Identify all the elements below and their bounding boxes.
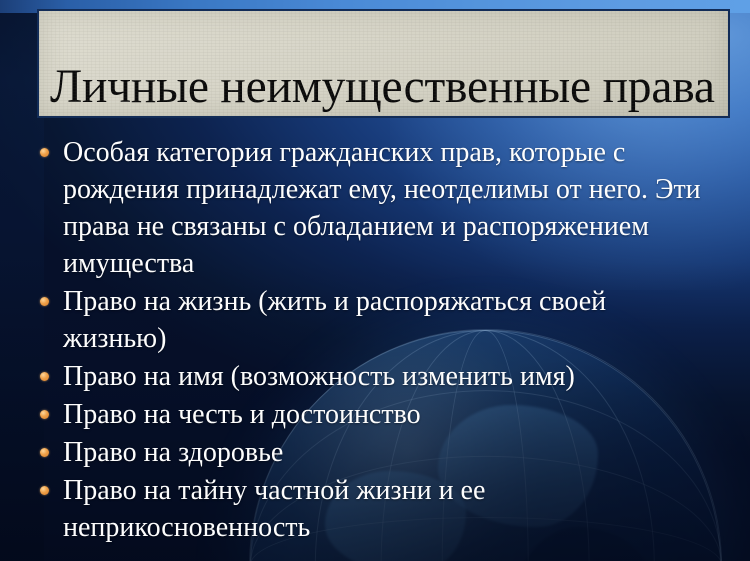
list-item-label: Право на здоровье [63, 434, 712, 471]
list-item: Право на имя (возможность изменить имя) [40, 358, 712, 395]
bullet-marker-icon [40, 486, 49, 495]
bullet-marker-icon [40, 448, 49, 457]
slide-title-box: Личные неимущественные права [37, 9, 730, 118]
slide-title: Личные неимущественные права [50, 60, 715, 114]
list-item: Особая категория гражданских прав, котор… [40, 134, 712, 282]
list-item-label: Право на честь и достоинство [63, 396, 712, 433]
list-item-label: Право на тайну частной жизни и ее неприк… [63, 472, 712, 546]
bullet-marker-icon [40, 372, 49, 381]
list-item: Право на тайну частной жизни и ее неприк… [40, 472, 712, 546]
list-item-label: Право на имя (возможность изменить имя) [63, 358, 712, 395]
bullet-marker-icon [40, 148, 49, 157]
list-item: Право на здоровье [40, 434, 712, 471]
bullet-list: Особая категория гражданских прав, котор… [40, 134, 712, 547]
bullet-marker-icon [40, 410, 49, 419]
bullet-marker-icon [40, 297, 49, 306]
list-item: Право на жизнь (жить и распоряжаться сво… [40, 283, 712, 357]
list-item-label: Особая категория гражданских прав, котор… [63, 134, 712, 282]
list-item-label: Право на жизнь (жить и распоряжаться сво… [63, 283, 712, 357]
presentation-slide: Личные неимущественные права Особая кате… [0, 0, 750, 561]
list-item: Право на честь и достоинство [40, 396, 712, 433]
